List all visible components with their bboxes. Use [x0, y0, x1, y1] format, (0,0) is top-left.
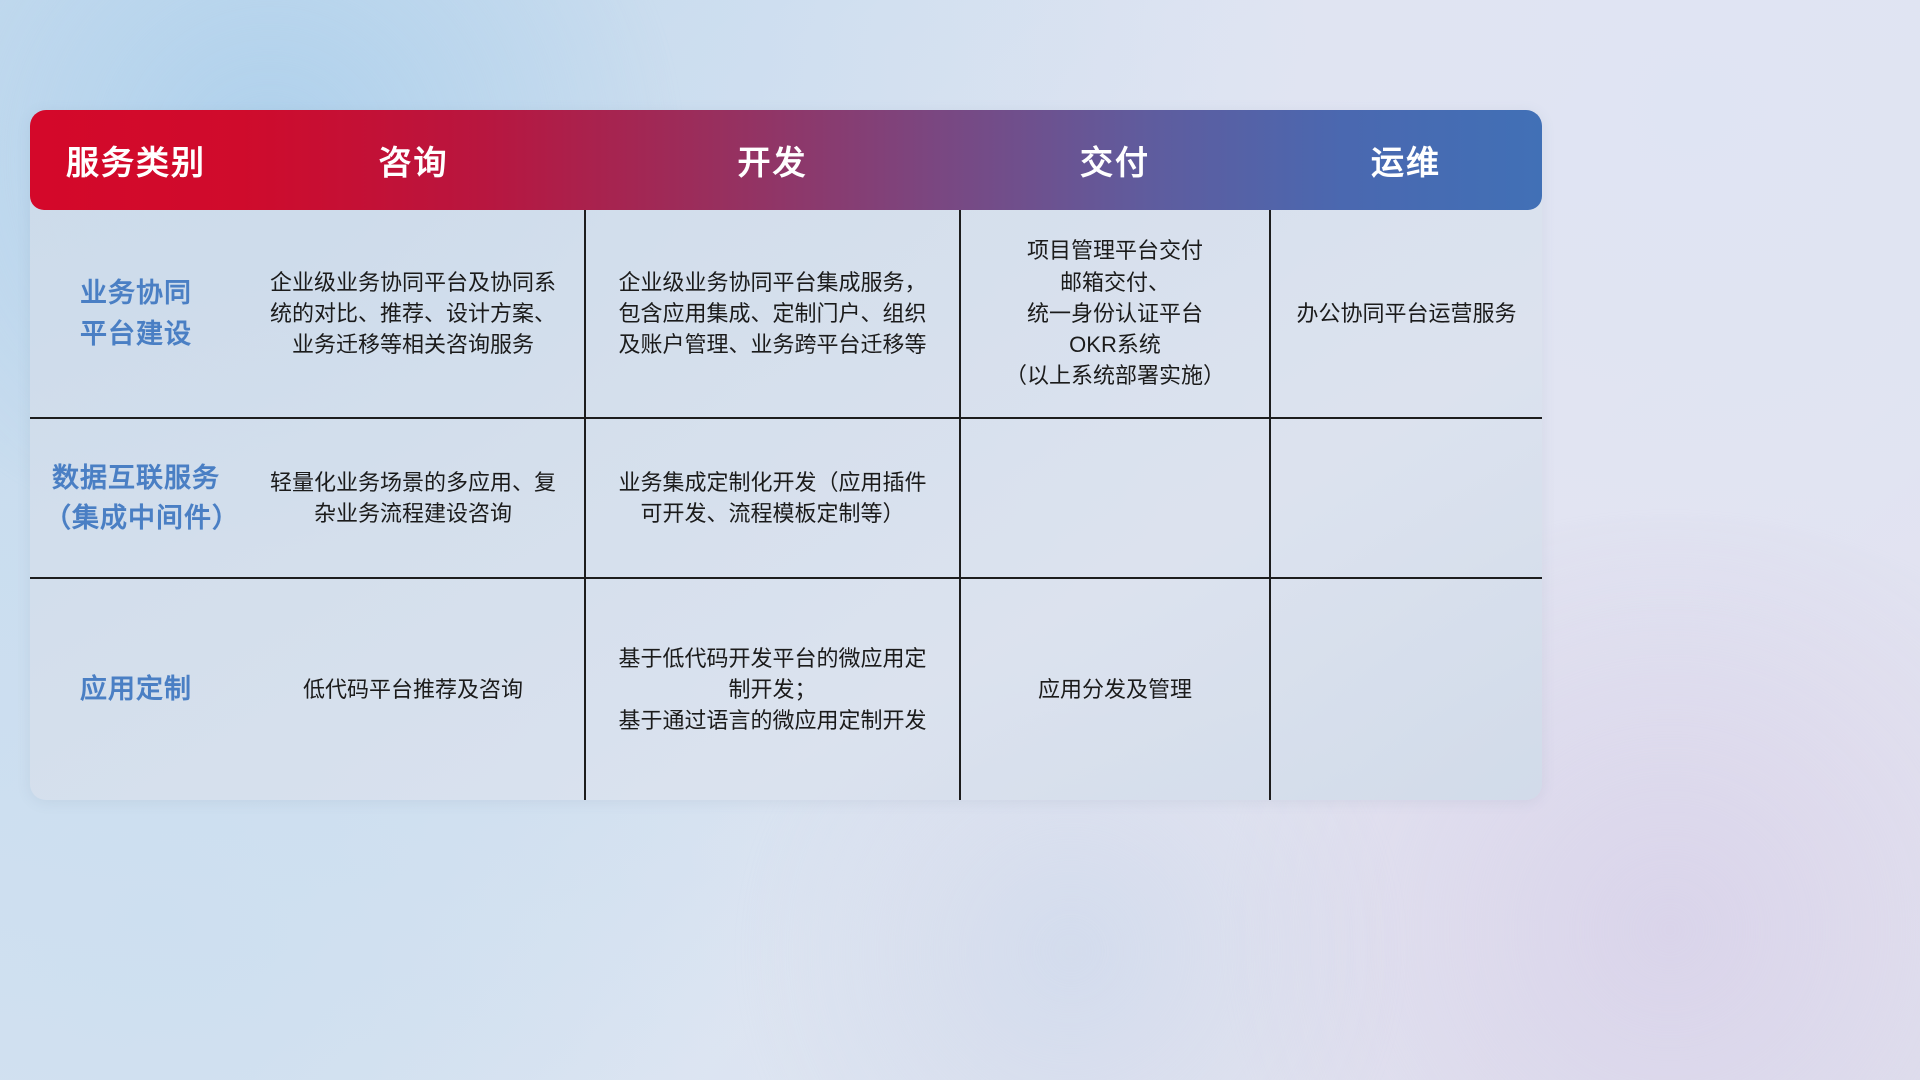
cell-consulting: 轻量化业务场景的多应用、复 杂业务流程建设咨询 [242, 418, 585, 578]
cell-development: 基于低代码开发平台的微应用定 制开发； 基于通过语言的微应用定制开发 [585, 578, 960, 800]
cell-delivery: 应用分发及管理 [960, 578, 1270, 800]
cell-category: 应用定制 [30, 578, 242, 800]
table-body: 业务协同 平台建设 企业级业务协同平台及协同系 统的对比、推荐、设计方案、 业务… [30, 210, 1542, 800]
cell-development: 企业级业务协同平台集成服务， 包含应用集成、定制门户、组织 及账户管理、业务跨平… [585, 210, 960, 418]
cell-category: 数据互联服务 （集成中间件） [30, 418, 242, 578]
service-matrix-table: 服务类别 咨询 开发 交付 运维 业务协同 平台建设 企业级业务协同平台及协同系… [30, 110, 1542, 800]
cell-operations: 办公协同平台运营服务 [1270, 210, 1542, 418]
table-row: 数据互联服务 （集成中间件） 轻量化业务场景的多应用、复 杂业务流程建设咨询 业… [30, 418, 1542, 578]
cell-delivery: 项目管理平台交付 邮箱交付、 统一身份认证平台 OKR系统 （以上系统部署实施） [960, 210, 1270, 418]
cell-consulting: 企业级业务协同平台及协同系 统的对比、推荐、设计方案、 业务迁移等相关咨询服务 [242, 210, 585, 418]
header-cell-category: 服务类别 [30, 110, 242, 210]
service-matrix-card: 服务类别 咨询 开发 交付 运维 业务协同 平台建设 企业级业务协同平台及协同系… [30, 110, 1542, 800]
table-header: 服务类别 咨询 开发 交付 运维 [30, 110, 1542, 210]
header-cell-delivery: 交付 [960, 110, 1270, 210]
header-cell-consulting: 咨询 [242, 110, 585, 210]
header-cell-operations: 运维 [1270, 110, 1542, 210]
cell-operations [1270, 418, 1542, 578]
cell-development: 业务集成定制化开发（应用插件 可开发、流程模板定制等） [585, 418, 960, 578]
cell-operations [1270, 578, 1542, 800]
table-row: 应用定制 低代码平台推荐及咨询 基于低代码开发平台的微应用定 制开发； 基于通过… [30, 578, 1542, 800]
header-row: 服务类别 咨询 开发 交付 运维 [30, 110, 1542, 210]
table-row: 业务协同 平台建设 企业级业务协同平台及协同系 统的对比、推荐、设计方案、 业务… [30, 210, 1542, 418]
cell-consulting: 低代码平台推荐及咨询 [242, 578, 585, 800]
cell-category: 业务协同 平台建设 [30, 210, 242, 418]
cell-delivery [960, 418, 1270, 578]
header-cell-development: 开发 [585, 110, 960, 210]
